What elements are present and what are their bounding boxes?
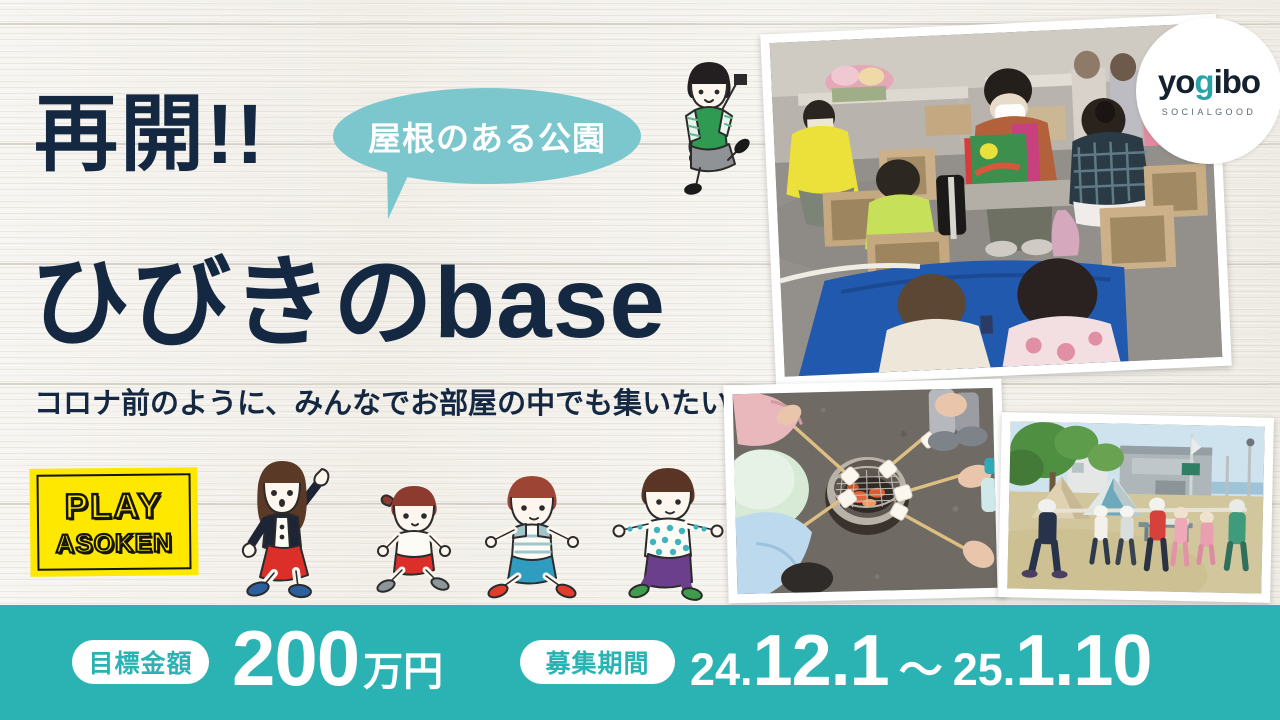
page-title-line2: ひびきのbase (30, 248, 666, 358)
yogibo-word-pre: yo (1158, 63, 1195, 100)
page-title-line1: 再開!! (34, 92, 266, 176)
period-end-date: 1.10 (1015, 625, 1151, 697)
yogibo-word-post: ibo (1214, 63, 1260, 100)
period-separator: 〜 (899, 649, 943, 693)
goal-amount-unit: 万円 (363, 652, 443, 692)
photo-outdoor-field-image (1007, 421, 1264, 593)
yogibo-tagline: SOCIALGOOD (1162, 107, 1257, 117)
goal-amount-value: 200 万円 (232, 619, 443, 697)
campaign-poster: 再開!! ひびきのbase コロナ前のように、みんなでお部屋の中でも集いたい。 … (0, 0, 1280, 720)
goal-amount-label: 目標金額 (72, 640, 209, 684)
speech-bubble: 屋根のある公園 (333, 88, 641, 184)
play-asoken-line1: PLAY (65, 488, 164, 524)
photo-outdoor-field (998, 412, 1274, 603)
speech-bubble-label: 屋根のある公園 (368, 112, 606, 160)
photo-marshmallow-roasting-image (733, 388, 998, 594)
doodle-walking-child-icon (612, 462, 724, 602)
doodle-jumping-child-icon (660, 48, 770, 198)
campaign-summary-band: 目標金額 200 万円 募集期間 24. 12.1 〜 25. 1.10 (0, 605, 1280, 720)
photo-marshmallow-roasting (723, 379, 1006, 604)
play-asoken-line2: ASOKEN (55, 529, 173, 556)
period-end-year: 25. (953, 647, 1016, 692)
yogibo-socialgood-badge: yogibo SOCIALGOOD (1136, 18, 1280, 164)
play-asoken-logo: PLAY ASOKEN (29, 467, 198, 577)
doodle-running-toddler-icon (372, 478, 458, 598)
yogibo-word-accent: g (1194, 63, 1213, 100)
doodle-running-girl-icon (238, 455, 348, 600)
period-label: 募集期間 (520, 640, 675, 684)
period-start-year: 24. (690, 647, 753, 692)
period-start-date: 12.1 (753, 625, 889, 697)
subtitle-copy: コロナ前のように、みんなでお部屋の中でも集いたい。 (34, 380, 758, 422)
goal-amount-number: 200 (232, 619, 359, 697)
yogibo-wordmark: yogibo (1158, 65, 1260, 98)
doodle-running-boy-icon (484, 470, 594, 602)
period-value: 24. 12.1 〜 25. 1.10 (690, 625, 1151, 697)
